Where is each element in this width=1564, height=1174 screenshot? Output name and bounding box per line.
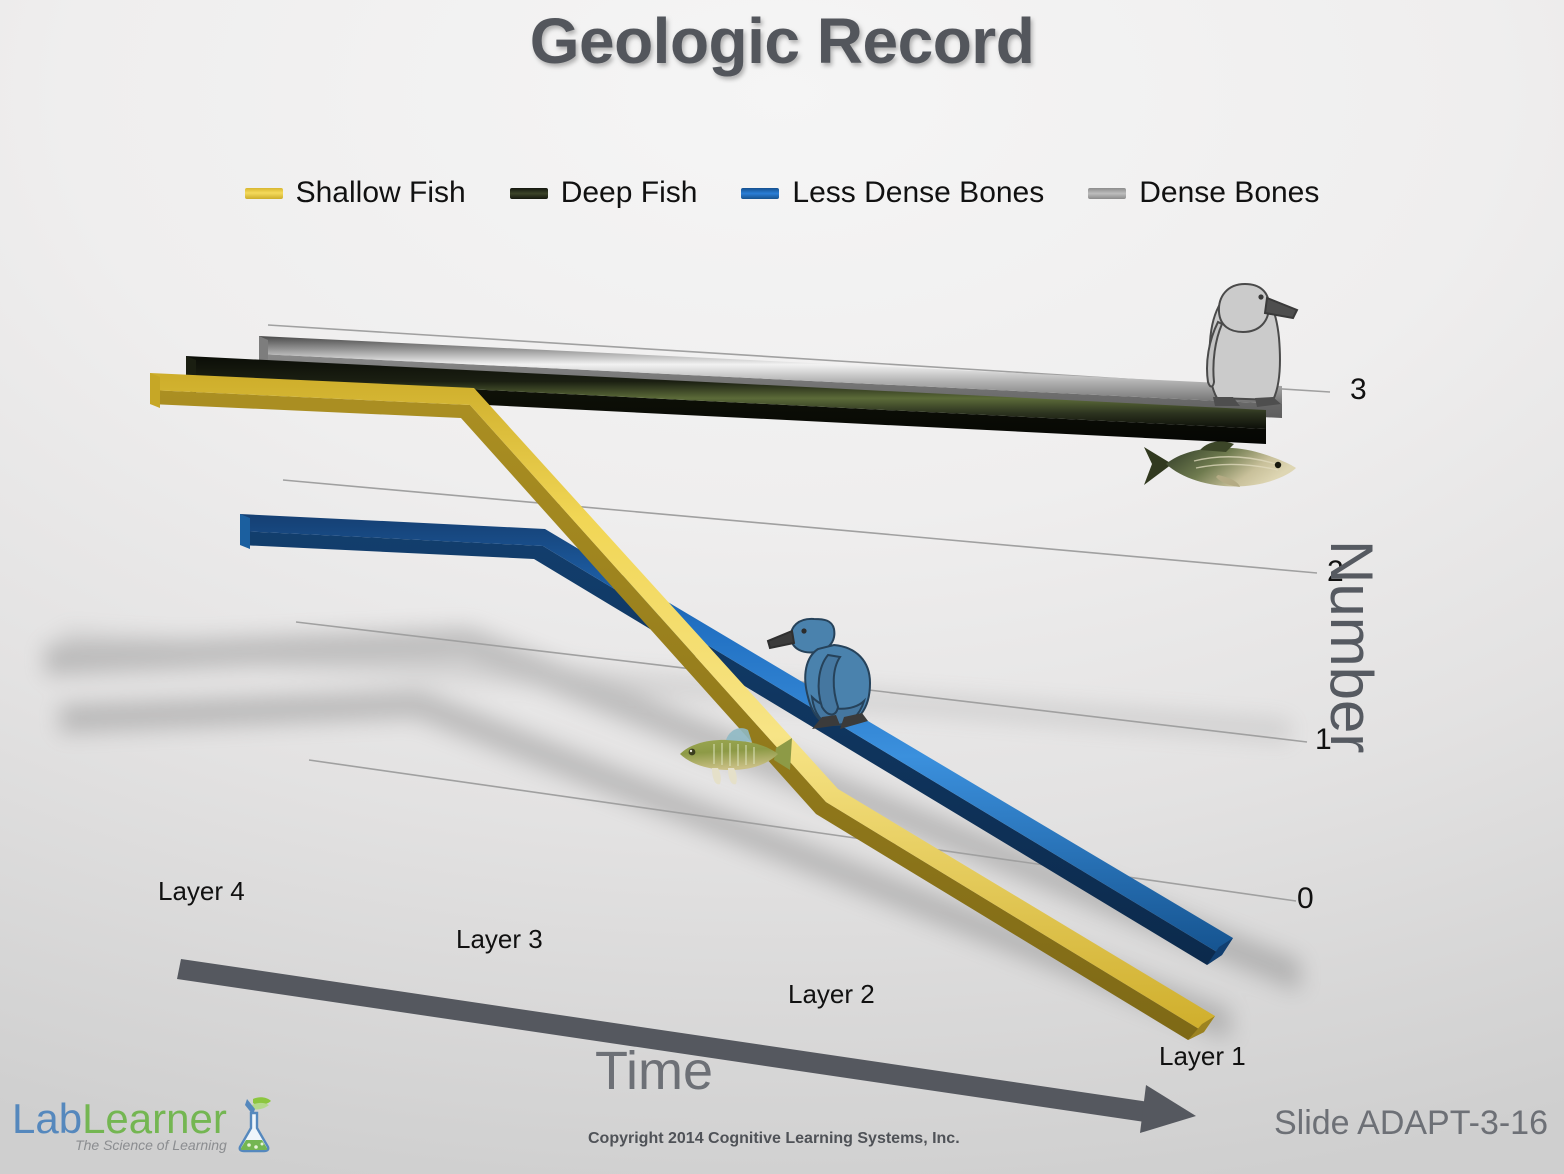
lablearner-logo[interactable]: LabLearner The Science of Learning [12, 1095, 275, 1153]
blue-bird-icon [766, 605, 916, 740]
y-axis-title: Number [1317, 540, 1386, 753]
slide-canvas: Geologic Record Shallow Fish Deep Fish L… [0, 0, 1564, 1174]
logo-wordmark: LabLearner [12, 1099, 227, 1139]
x-tick-layer-1: Layer 1 [1159, 1041, 1246, 1072]
olive-fish-icon [1142, 437, 1302, 499]
flask-icon [233, 1095, 275, 1153]
x-tick-layer-4: Layer 4 [158, 876, 245, 907]
y-tick-3: 3 [1350, 373, 1367, 407]
gray-penguin-icon [1185, 270, 1315, 420]
green-fish-icon [668, 726, 794, 802]
chart-plot-area: 3 2 1 0 Number Layer 4 Layer 3 Layer 2 L… [0, 0, 1564, 1174]
x-tick-layer-3: Layer 3 [456, 924, 543, 955]
y-tick-0: 0 [1297, 882, 1314, 916]
slide-identifier: Slide ADAPT-3-16 [1274, 1104, 1548, 1143]
x-axis-title: Time [595, 1040, 713, 1102]
logo-learner-text: Learner [82, 1095, 227, 1142]
copyright-notice: Copyright 2014 Cognitive Learning System… [588, 1130, 960, 1148]
logo-lab-text: Lab [12, 1095, 82, 1142]
x-tick-layer-2: Layer 2 [788, 979, 875, 1010]
